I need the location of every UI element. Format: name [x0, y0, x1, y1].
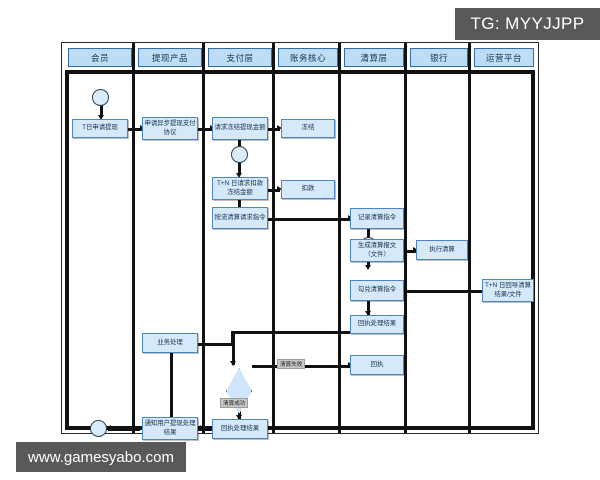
node-freeze[interactable]: 冻结	[281, 119, 335, 138]
arrow-to-decision	[230, 361, 236, 366]
node-end-circle[interactable]	[90, 420, 107, 437]
lane-header-clearing-layer: 清算层	[344, 48, 404, 67]
node-receipt-result[interactable]: 回执处理结果	[212, 419, 268, 439]
edge-import-to-reconcile	[402, 290, 482, 293]
lane-header-operation-platform: 运营平台	[474, 48, 534, 67]
edge-clearreq-to-record	[268, 218, 350, 221]
lane-account-core	[275, 43, 341, 433]
node-receipt[interactable]: 回执	[350, 355, 404, 375]
node-business-process[interactable]: 业务处理	[142, 333, 198, 353]
swimlane-diagram: 会员 提现产品 支付层 账务核心 清算层 银行 运营平台	[61, 42, 539, 434]
lane-header-member: 会员	[68, 48, 132, 67]
lane-container: 会员 提现产品 支付层 账务核心 清算层 银行 运营平台	[62, 43, 538, 433]
node-apply[interactable]: T日申请提现	[72, 119, 128, 138]
edge-business-right	[198, 343, 234, 346]
node-receipt-processing[interactable]: 回执处理结果	[350, 315, 404, 334]
node-generate-clearing-file[interactable]: 生成清算报文（文件）	[350, 239, 404, 262]
node-agreement[interactable]: 申请异步提现支付协议	[142, 117, 198, 140]
node-reconcile-clearing-order[interactable]: 勾兑清算指令	[350, 280, 404, 301]
node-deduct[interactable]: 扣款	[281, 180, 335, 199]
node-start-circle[interactable]	[92, 89, 109, 106]
edge-notify-to-business	[170, 343, 173, 419]
lane-left-border	[65, 70, 69, 430]
edge-business-right-v	[231, 331, 234, 345]
lane-header-account-core: 账务核心	[278, 48, 338, 67]
arrow-timer2-down	[365, 265, 371, 270]
lane-right-border	[531, 70, 535, 430]
edge-notify-to-end	[108, 428, 140, 431]
edge-label-clearing-success: 清算成功	[220, 398, 248, 408]
node-deduct-request[interactable]: T+N 日请求扣款冻结金额	[212, 177, 268, 200]
watermark-top-right: TG: MYYJJPP	[455, 8, 600, 40]
lane-operation-platform	[471, 43, 537, 433]
lane-header-bank: 银行	[410, 48, 468, 67]
node-notify-user[interactable]: 通知用户提现处理结果	[142, 417, 198, 440]
node-freeze-request[interactable]: 请求冻结提现金额	[212, 117, 268, 140]
lane-bank	[407, 43, 471, 433]
node-clearing-request[interactable]: 按流清算请求指令	[212, 207, 268, 229]
node-import-clearing-result[interactable]: T+N 日回导清算结果/文件	[482, 279, 534, 302]
lane-header-withdraw-product: 提现产品	[138, 48, 202, 67]
node-record-clearing-order[interactable]: 记录清算指令	[350, 208, 404, 229]
lane-header-divider	[65, 70, 535, 74]
watermark-bottom-left: www.gamesyabo.com	[16, 442, 186, 472]
node-execute-clearing[interactable]: 执行清算	[416, 240, 468, 260]
edge-receiptproc-left	[232, 331, 352, 334]
node-timer-circle-1[interactable]	[231, 146, 248, 163]
lane-header-payment-layer: 支付层	[208, 48, 272, 67]
edge-label-clearing-failed: 清算失败	[277, 359, 305, 369]
